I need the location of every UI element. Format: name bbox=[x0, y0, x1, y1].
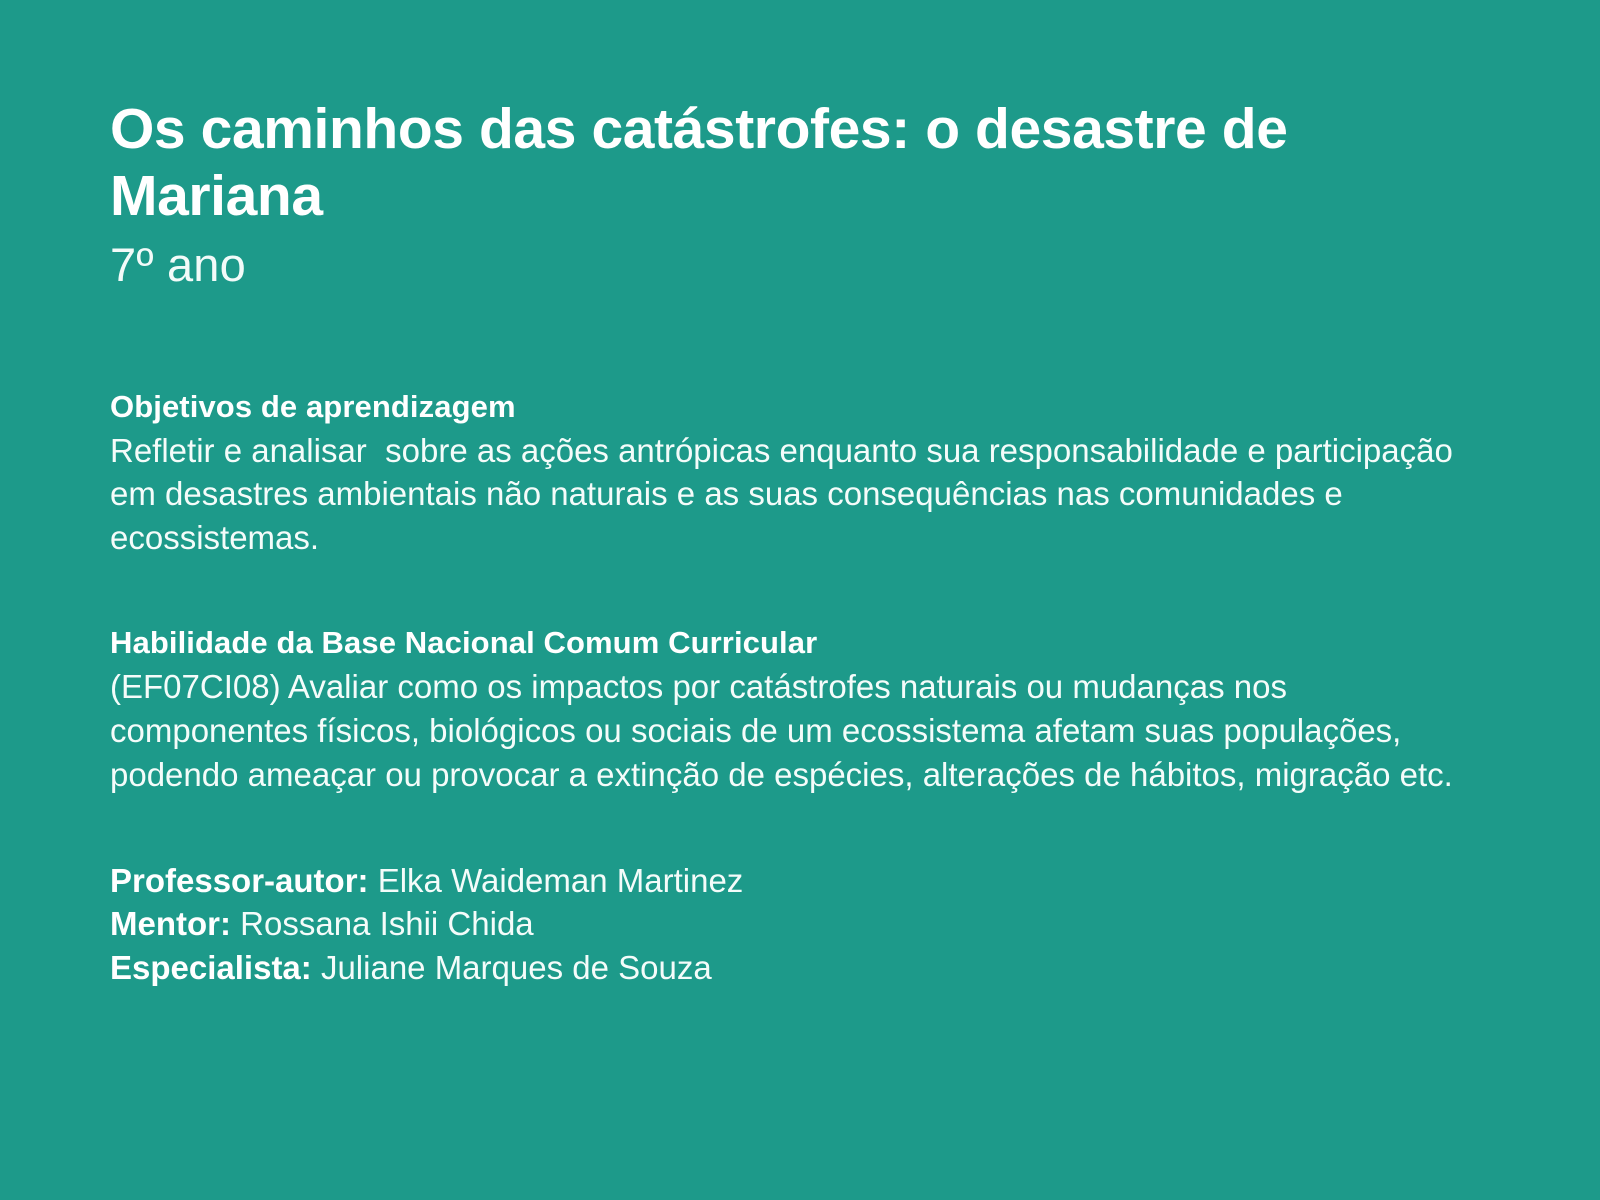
credit-line-especialista: Especialista: Juliane Marques de Souza bbox=[110, 946, 1470, 990]
credits-section: Professor-autor: Elka Waideman Martinez … bbox=[110, 859, 1470, 991]
slide-header: Os caminhos das catástrofes: o desastre … bbox=[110, 0, 1490, 294]
credit-label: Professor-autor: bbox=[110, 862, 369, 899]
learning-objectives-heading: Objetivos de aprendizagem bbox=[110, 388, 1470, 427]
credit-line-mentor: Mentor: Rossana Ishii Chida bbox=[110, 902, 1470, 946]
grade-subtitle: 7º ano bbox=[110, 237, 1490, 293]
credit-value: Juliane Marques de Souza bbox=[321, 949, 712, 986]
bncc-skill-text: (EF07CI08) Avaliar como os impactos por … bbox=[110, 665, 1470, 797]
learning-objectives-text: Refletir e analisar sobre as ações antró… bbox=[110, 429, 1470, 561]
lesson-cover-slide: Os caminhos das catástrofes: o desastre … bbox=[0, 0, 1600, 1200]
credit-label: Mentor: bbox=[110, 905, 231, 942]
credit-line-professor-autor: Professor-autor: Elka Waideman Martinez bbox=[110, 859, 1470, 903]
learning-objectives-section: Objetivos de aprendizagem Refletir e ana… bbox=[110, 388, 1470, 560]
page-title: Os caminhos das catástrofes: o desastre … bbox=[110, 96, 1420, 229]
bncc-skill-section: Habilidade da Base Nacional Comum Curric… bbox=[110, 624, 1470, 796]
credit-value: Elka Waideman Martinez bbox=[378, 862, 744, 899]
credit-label: Especialista: bbox=[110, 949, 312, 986]
credit-value: Rossana Ishii Chida bbox=[240, 905, 534, 942]
bncc-skill-heading: Habilidade da Base Nacional Comum Curric… bbox=[110, 624, 1470, 663]
